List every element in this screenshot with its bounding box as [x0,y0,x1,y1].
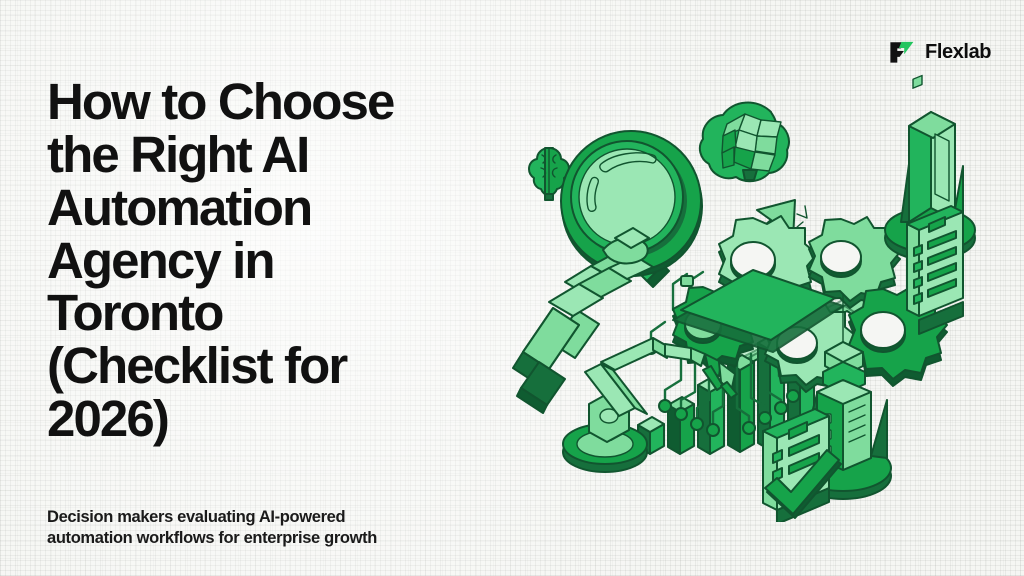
slide-canvas: Flexlab How to Choose the Right AI Autom… [0,0,1024,576]
hero-illustration: .o{stroke:#11552F;stroke-width:2;stroke-… [505,52,1020,522]
brain-lowpoly-icon [700,103,789,182]
checkmark-clipboard-icon [763,409,841,522]
page-subtitle: Decision makers evaluating AI-powered au… [47,507,477,551]
page-title: How to Choose the Right AI Automation Ag… [47,76,487,445]
